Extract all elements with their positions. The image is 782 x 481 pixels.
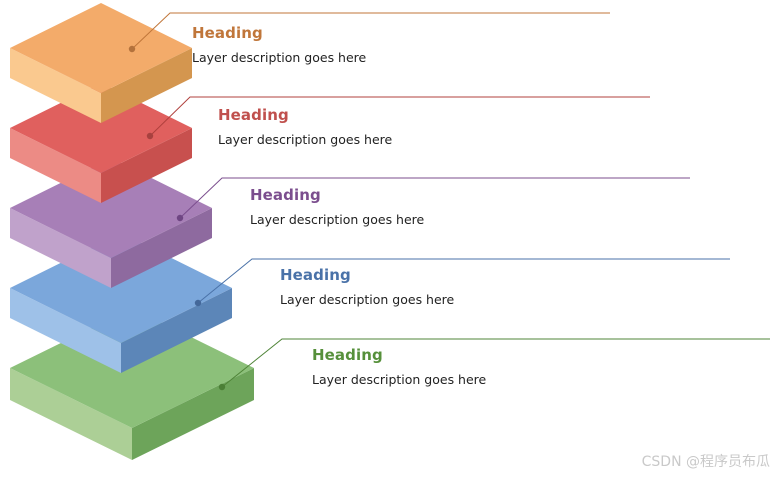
leader-path [198,259,730,303]
diagram-canvas: HeadingLayer description goes hereHeadin… [0,0,782,481]
leader-anchor-dot [219,384,225,390]
callout-2: HeadingLayer description goes here [218,106,392,148]
callout-heading: Heading [218,106,392,124]
callout-description: Layer description goes here [312,372,486,388]
callout-heading: Heading [312,346,486,364]
callout-4: HeadingLayer description goes here [280,266,454,308]
leader-line-5 [219,339,770,390]
leader-anchor-dot [147,133,153,139]
callout-description: Layer description goes here [218,132,392,148]
callout-3: HeadingLayer description goes here [250,186,424,228]
leader-anchor-dot [195,300,201,306]
leader-line-4 [195,259,730,306]
callout-description: Layer description goes here [250,212,424,228]
callout-heading: Heading [280,266,454,284]
connector-group [129,13,770,390]
callout-description: Layer description goes here [192,50,366,66]
callout-5: HeadingLayer description goes here [312,346,486,388]
callout-description: Layer description goes here [280,292,454,308]
leader-path [222,339,770,387]
leader-anchor-dot [129,46,135,52]
slab-1[interactable] [10,3,192,123]
slab-group [10,3,254,460]
callout-heading: Heading [250,186,424,204]
leader-anchor-dot [177,215,183,221]
watermark-label: CSDN @程序员布瓜 [642,451,770,471]
callout-heading: Heading [192,24,366,42]
layered-stack-svg [0,0,782,481]
callout-1: HeadingLayer description goes here [192,24,366,66]
